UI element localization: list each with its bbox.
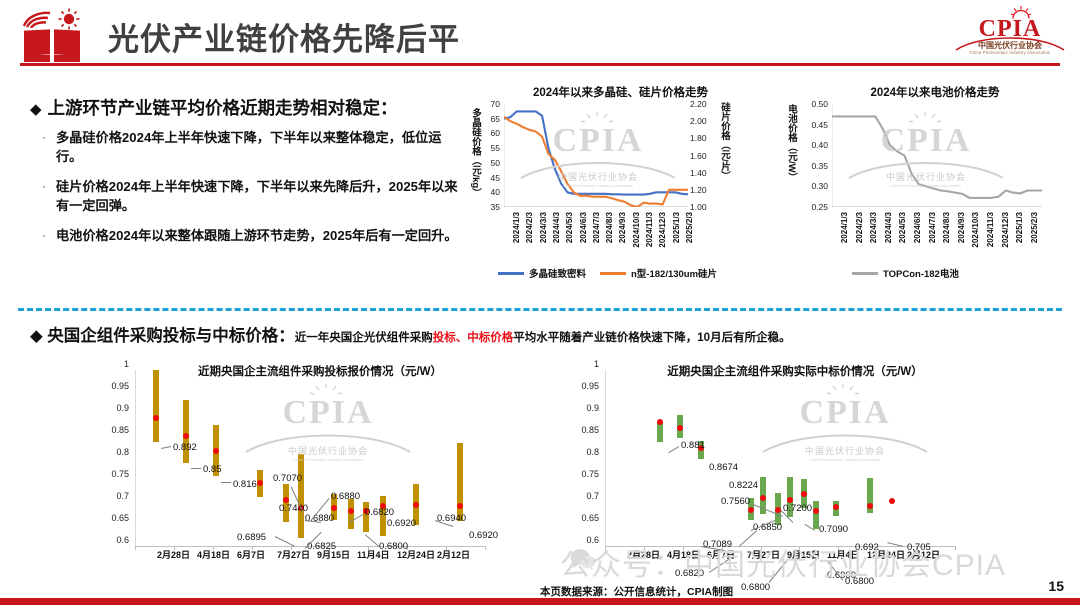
axis-tick-label: 2024/2/3 [525, 212, 534, 243]
legend-swatch-icon [498, 272, 524, 275]
data-point [283, 497, 289, 503]
axis-tick-label: 2024/1/3 [512, 212, 521, 243]
axis-tick-label: 2024/6/3 [913, 212, 922, 243]
leader-line [669, 446, 680, 453]
data-label: 0.816 [233, 479, 257, 490]
data-label: 0.6800 [379, 541, 408, 552]
data-point [889, 498, 895, 504]
data-label: 0.85 [203, 464, 222, 475]
axis-tick-label: 0.85 [565, 425, 599, 435]
x-axis-tick [174, 546, 175, 550]
axis-tick-label: 0.65 [565, 513, 599, 523]
section1-bullets: · 多晶硅价格2024年上半年快速下降，下半年以来整体稳定，低位运行。 · 硅片… [42, 128, 462, 256]
slide-root: 光伏产业链价格先降后平 CPIA 中国光伏行业协会 China Photovol… [0, 0, 1080, 605]
bullet-dot-icon: · [42, 177, 56, 215]
axis-tick-label: 0.30 [802, 181, 828, 191]
chart1-legend-item-poly: 多晶硅致密料 [498, 266, 586, 280]
y-axis-line [605, 370, 606, 546]
axis-tick-label: 2024/12/3 [1001, 212, 1010, 248]
axis-tick-label: 0.65 [95, 513, 129, 523]
chart-poly-wafer-price: 2024年以来多晶硅、硅片价格走势 多晶硅价格（元/kg） 硅片价格（元/片） … [470, 84, 760, 284]
section1-heading: ◆上游环节产业链平均价格近期走势相对稳定： [30, 95, 398, 120]
axis-tick-label: 40 [478, 187, 500, 197]
diamond-bullet-icon: ◆ [30, 327, 47, 345]
chart-title: 2024年以来电池价格走势 [820, 84, 1050, 100]
legend-label: 多晶硅致密料 [529, 266, 586, 280]
axis-tick-label: 2024/2/3 [855, 212, 864, 243]
leader-line [161, 446, 171, 449]
panel-left-shape [24, 29, 50, 55]
section2-heading: ◆ 央国企组件采购投标与中标价格：近一年央国企光伏组件采购投标、中标价格平均水平… [30, 322, 791, 346]
cpia-en-name: China Photovoltaic Industry Association [950, 50, 1070, 55]
data-point [213, 448, 219, 454]
x-axis-tick [485, 546, 486, 550]
axis-tick-label: 70 [478, 99, 500, 109]
legend-swatch-icon [852, 272, 878, 275]
axis-tick-label: 1 [565, 359, 599, 369]
data-point [183, 433, 189, 439]
axis-tick-label: 0.75 [565, 469, 599, 479]
chart2-legend-item: TOPCon-182电池 [852, 266, 959, 280]
axis-tick-label: 55 [478, 143, 500, 153]
signal-wave-icon [22, 10, 52, 28]
page-watermark: 公众号：中国光伏行业协会CPIA [560, 540, 1006, 584]
axis-tick-label: 1.00 [690, 202, 716, 212]
chart3-plot-area: 0.8920.850.8160.70700.74400.68800.68200.… [135, 364, 485, 556]
data-label: 0.6920 [387, 518, 416, 529]
axis-tick-label: 0.95 [95, 381, 129, 391]
axis-tick-label: 2025/2/3 [685, 212, 694, 243]
panel-leg-left [24, 55, 50, 62]
axis-tick-label: 0.95 [565, 381, 599, 391]
data-point [457, 503, 463, 509]
axis-tick-label: 1.80 [690, 133, 716, 143]
axis-tick-label: 0.9 [565, 403, 599, 413]
footer-bar [0, 598, 1080, 605]
legend-label: n型-182/130um硅片 [631, 266, 717, 280]
candle-bar [457, 443, 463, 521]
panel-right-shape [54, 29, 80, 55]
leader-line [191, 468, 201, 469]
axis-tick-label: 2024/1/3 [840, 212, 849, 243]
chart4-plot-area: 0.8810.86740.82240.75600.72000.68500.709… [605, 364, 955, 556]
axis-tick-label: 0.8 [95, 447, 129, 457]
bullet-text: 硅片价格2024年上半年快速下降，下半年以来先降后升，2025年以来有一定回弹。 [56, 177, 462, 215]
data-label: 0.6820 [365, 507, 394, 518]
legend-swatch-icon [600, 272, 626, 275]
leader-line [221, 482, 231, 483]
data-label: 0.892 [173, 442, 197, 453]
data-label: 0.8224 [729, 480, 758, 491]
axis-tick-label: 0.45 [802, 120, 828, 130]
axis-tick-label: 2025/2/3 [1030, 212, 1039, 243]
x-axis-tick [213, 546, 214, 550]
axis-tick-label: 2024/9/3 [957, 212, 966, 243]
y-axis-line [135, 370, 136, 546]
axis-tick-label: 0.9 [95, 403, 129, 413]
axis-tick-label: 2024/5/3 [898, 212, 907, 243]
data-point [257, 480, 263, 486]
legend-label: TOPCon-182电池 [883, 266, 959, 280]
footer-source: 本页数据来源：公开信息统计，CPIA制图 [540, 584, 733, 599]
data-label: 0.7070 [273, 473, 302, 484]
chart1-y-right-label: 硅片价格（元/片） [717, 102, 731, 212]
axis-tick-label: 50 [478, 158, 500, 168]
axis-tick-label: 2024/6/3 [579, 212, 588, 243]
data-label: 0.8674 [709, 462, 738, 473]
data-point [748, 507, 754, 513]
axis-tick-label: 2025/1/3 [672, 212, 681, 243]
data-point [801, 491, 807, 497]
chart1-plot-area [504, 104, 688, 207]
data-point [331, 505, 337, 511]
axis-tick-label: 65 [478, 114, 500, 124]
axis-tick-label: 2024/8/3 [605, 212, 614, 243]
axis-tick-label: 0.25 [802, 202, 828, 212]
data-label: 0.7560 [721, 496, 750, 507]
axis-tick-label: 2024/11/3 [986, 212, 995, 247]
axis-tick-label: 0.7 [95, 491, 129, 501]
x-axis-tick [252, 546, 253, 550]
axis-tick-label: 2024/3/3 [869, 212, 878, 243]
chart-title: 2024年以来多晶硅、硅片价格走势 [498, 84, 743, 100]
chart1-legend-item-wafer: n型-182/130um硅片 [600, 266, 717, 280]
chart-bid-price: 近期央国企主流组件采购投标报价情况（元/W） 10.950.90.850.80.… [95, 358, 495, 580]
axis-tick-label: 2024/3/3 [539, 212, 548, 243]
axis-tick-label: 2024/12/3 [658, 212, 667, 248]
diamond-bullet-icon: ◆ [30, 101, 42, 118]
axis-tick-label: 0.85 [95, 425, 129, 435]
data-label: 0.6880 [331, 491, 360, 502]
axis-tick-label: 0.40 [802, 140, 828, 150]
list-item: · 硅片价格2024年上半年快速下降，下半年以来先降后升，2025年以来有一定回… [42, 177, 462, 215]
header-divider [20, 63, 1060, 66]
page-title: 光伏产业链价格先降后平 [108, 14, 460, 59]
axis-tick-label: 0.8 [565, 447, 599, 457]
axis-tick-label: 2024/5/3 [565, 212, 574, 243]
axis-tick-label: 2024/7/3 [928, 212, 937, 243]
list-item: · 多晶硅价格2024年上半年快速下降，下半年以来整体稳定，低位运行。 [42, 128, 462, 166]
x-axis-tick [368, 546, 369, 550]
data-label: 0.7440 [279, 503, 308, 514]
axis-tick-label: 2024/8/3 [942, 212, 951, 243]
section-divider [18, 308, 1062, 311]
chart2-y-label: 电池价格（元/W） [784, 104, 798, 214]
sun-icon [58, 8, 80, 30]
axis-tick-label: 2024/10/3 [632, 212, 641, 248]
cpia-logo: CPIA 中国光伏行业协会 China Photovoltaic Industr… [950, 4, 1070, 60]
axis-tick-label: 45 [478, 173, 500, 183]
bullet-dot-icon: · [42, 226, 56, 245]
axis-tick-label: 2024/11/3 [645, 212, 654, 247]
axis-tick-label: 1.40 [690, 168, 716, 178]
x-axis-tick [446, 546, 447, 550]
panel-leg-right [54, 55, 80, 62]
data-point [867, 503, 873, 509]
candle-bar [348, 499, 354, 529]
axis-tick-label: 2024/10/3 [971, 212, 980, 248]
axis-tick-label: 1 [95, 359, 129, 369]
x-axis-tick [135, 546, 136, 550]
bullet-dot-icon: · [42, 128, 56, 166]
data-point [153, 415, 159, 421]
candle-bar [298, 454, 304, 538]
chart2-plot-area [832, 104, 1042, 207]
axis-tick-label: 0.7 [565, 491, 599, 501]
data-label: 0.881 [681, 440, 705, 451]
data-point [833, 504, 839, 510]
x-axis-tick [291, 546, 292, 550]
axis-tick-label: 2024/4/3 [552, 212, 561, 243]
data-label: 0.6920 [469, 530, 498, 541]
data-point [787, 497, 793, 503]
axis-tick-label: 1.60 [690, 151, 716, 161]
data-label: 0.6895 [237, 532, 266, 543]
candle-bar [183, 400, 189, 463]
data-point [813, 508, 819, 514]
bullet-text: 电池价格2024年以来整体跟随上游环节走势，2025年后有一定回升。 [56, 226, 458, 245]
leader-line [365, 534, 380, 547]
axis-tick-label: 0.75 [95, 469, 129, 479]
axis-tick-label: 2.00 [690, 116, 716, 126]
axis-tick-label: 2024/4/3 [884, 212, 893, 243]
chart-cell-price: 2024年以来电池价格走势 电池价格（元/W） 0.500.450.400.35… [780, 84, 1070, 284]
candle-bar [153, 370, 159, 442]
axis-tick-label: 2.20 [690, 99, 716, 109]
axis-tick-label: 2025/1/3 [1015, 212, 1024, 243]
data-label: 0.7200 [783, 503, 812, 514]
axis-tick-label: 0.6 [95, 535, 129, 545]
axis-tick-label: 2024/9/3 [618, 212, 627, 243]
data-label: 0.7090 [819, 524, 848, 535]
axis-tick-label: 35 [478, 202, 500, 212]
bullet-text: 多晶硅价格2024年上半年快速下降，下半年以来整体稳定，低位运行。 [56, 128, 462, 166]
section2-highlight: 投标、中标价格 [433, 332, 514, 344]
axis-tick-label: 1.20 [690, 185, 716, 195]
slide-header: 光伏产业链价格先降后平 CPIA 中国光伏行业协会 China Photovol… [0, 0, 1080, 70]
list-item: · 电池价格2024年以来整体跟随上游环节走势，2025年后有一定回升。 [42, 226, 462, 245]
solar-panel-icon [16, 8, 88, 60]
data-point [348, 508, 354, 514]
axis-tick-label: 0.50 [802, 99, 828, 109]
axis-tick-label: 60 [478, 128, 500, 138]
page-number: 15 [1048, 578, 1064, 594]
axis-tick-label: 0.35 [802, 161, 828, 171]
axis-tick-label: 2024/7/3 [592, 212, 601, 243]
